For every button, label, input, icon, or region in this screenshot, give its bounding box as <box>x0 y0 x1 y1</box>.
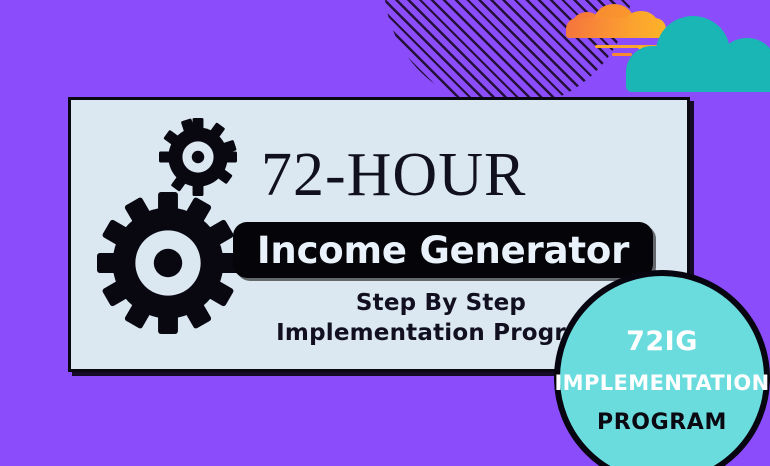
gear-small-icon <box>159 118 237 196</box>
badge-line-72ig: 72IG <box>626 328 698 355</box>
badge-line-implementation: IMPLEMENTATION <box>554 373 769 394</box>
gear-large-icon <box>97 192 239 334</box>
badge-line-program: PROGRAM <box>597 412 727 434</box>
poster-canvas: 72-HOUR Income Generator Step By Step Im… <box>0 0 770 466</box>
headline-72-hour: 72-HOUR <box>261 144 526 206</box>
teal-cloud-base <box>626 46 770 92</box>
income-generator-label: Income Generator <box>257 229 629 272</box>
teal-cloud-icon <box>626 16 770 92</box>
program-badge: 72IG IMPLEMENTATION PROGRAM <box>554 270 770 466</box>
income-generator-band: Income Generator <box>233 222 653 278</box>
